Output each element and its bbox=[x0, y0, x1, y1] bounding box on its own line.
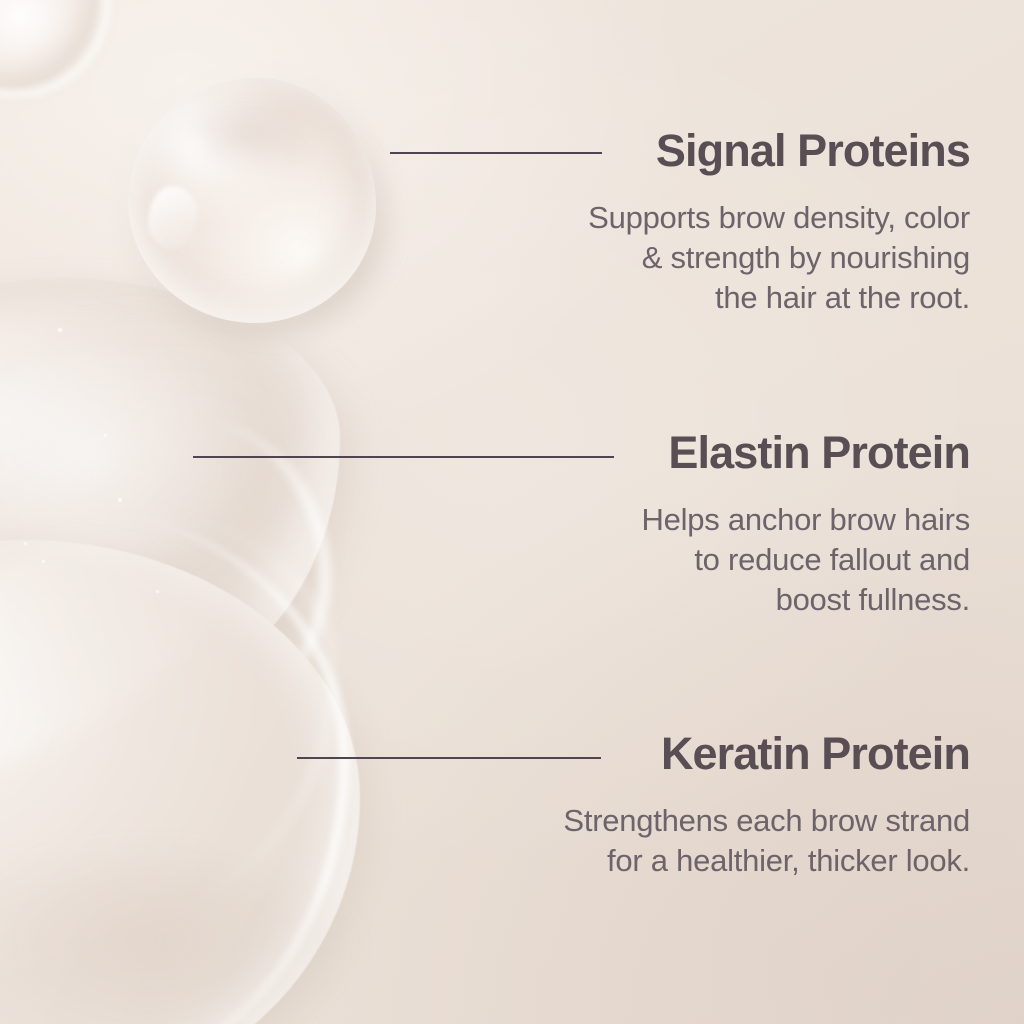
gel-speck bbox=[24, 542, 27, 545]
annotation-heading-signal-proteins: Signal Proteins bbox=[520, 128, 970, 174]
annotation-body-line: & strength by nourishing bbox=[642, 240, 970, 275]
annotation-signal-proteins: Signal Proteins Supports brow density, c… bbox=[520, 128, 970, 319]
annotation-body-line: Helps anchor brow hairs bbox=[641, 502, 970, 537]
annotation-body-line: boost fullness. bbox=[776, 582, 970, 617]
annotation-body-line: for a healthier, thicker look. bbox=[607, 843, 970, 878]
main-droplet-shape bbox=[128, 78, 376, 323]
annotation-body-line: Supports brow density, color bbox=[588, 200, 970, 235]
product-ingredient-infographic: Signal Proteins Supports brow density, c… bbox=[0, 0, 1024, 1024]
gel-speck bbox=[118, 498, 122, 502]
annotation-body-line: the hair at the root. bbox=[715, 280, 970, 315]
annotation-body-elastin-protein: Helps anchor brow hairs to reduce fallou… bbox=[520, 500, 970, 621]
annotation-keratin-protein: Keratin Protein Strengthens each brow st… bbox=[520, 731, 970, 881]
gel-speck bbox=[58, 328, 62, 332]
annotation-body-signal-proteins: Supports brow density, color & strength … bbox=[520, 198, 970, 319]
gel-speck bbox=[104, 434, 107, 437]
gel-speck bbox=[42, 560, 45, 563]
annotation-elastin-protein: Elastin Protein Helps anchor brow hairs … bbox=[520, 430, 970, 621]
annotation-body-line: Strengthens each brow strand bbox=[563, 803, 970, 838]
annotation-body-keratin-protein: Strengthens each brow strand for a healt… bbox=[520, 801, 970, 882]
gel-speck bbox=[156, 590, 159, 593]
annotation-heading-elastin-protein: Elastin Protein bbox=[520, 430, 970, 476]
annotation-body-line: to reduce fallout and bbox=[694, 542, 970, 577]
annotation-heading-keratin-protein: Keratin Protein bbox=[520, 731, 970, 777]
